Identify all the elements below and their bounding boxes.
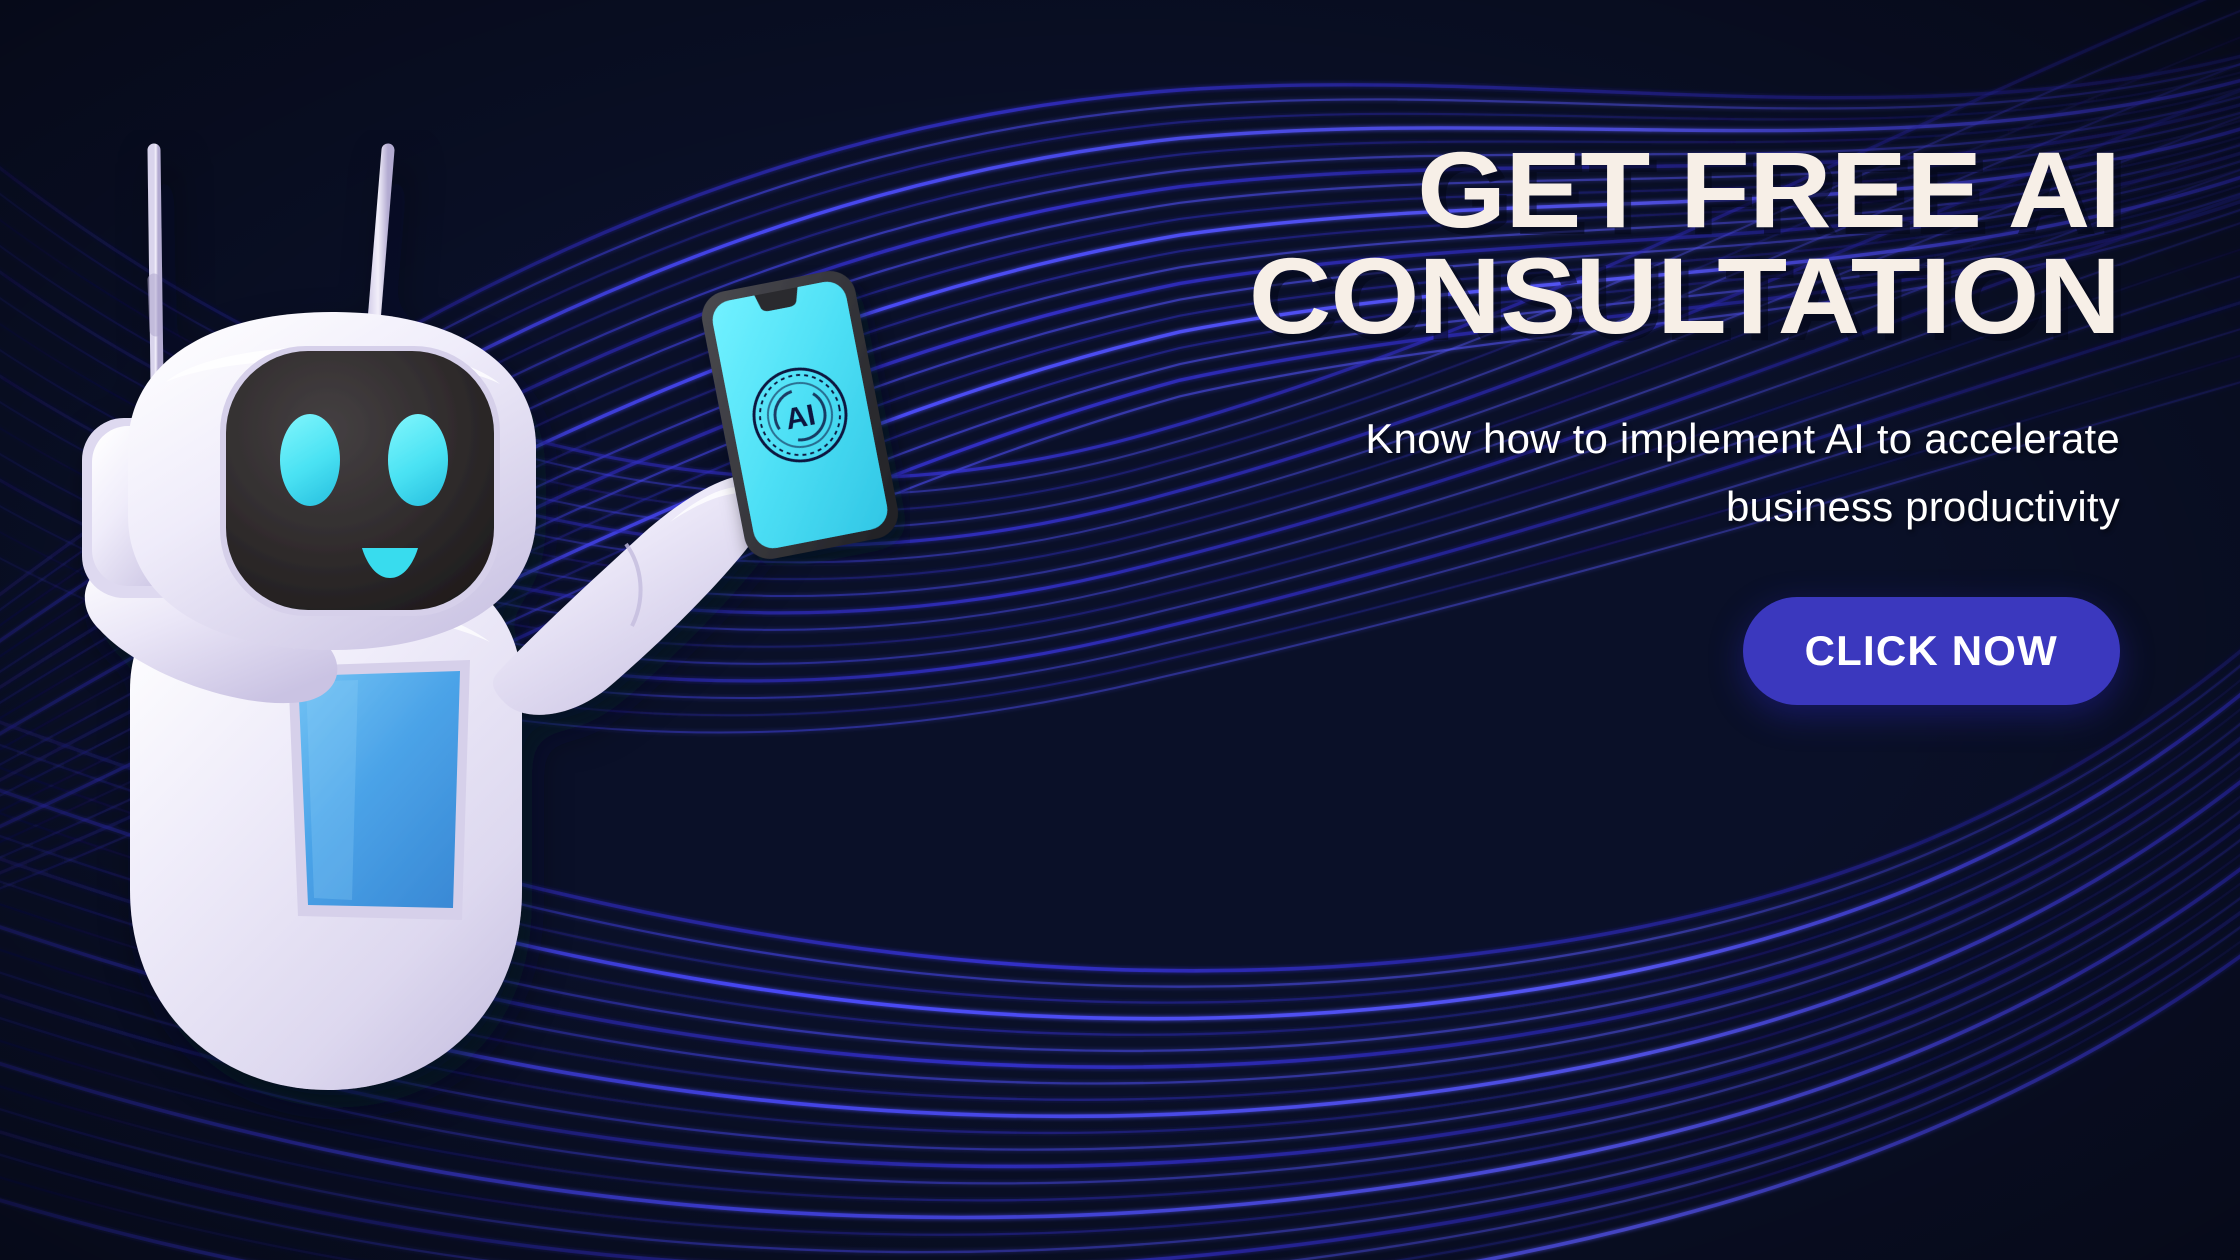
subheading: Know how to implement AI to accelerate b… [940, 405, 2120, 541]
robot-face-screen [220, 346, 500, 616]
promo-banner: AI GET FREE AI CONSULTATION Know how to … [0, 0, 2240, 1260]
copy-block: GET FREE AI CONSULTATION Know how to imp… [940, 140, 2120, 705]
ai-logo-text: AI [783, 398, 819, 436]
subheading-line-2: business productivity [940, 473, 2120, 541]
chest-display-panel [288, 660, 470, 920]
robot-eye-left [280, 414, 340, 506]
headline-line-2: CONSULTATION [869, 246, 2120, 346]
click-now-button[interactable]: CLICK NOW [1743, 597, 2120, 705]
cta-container: CLICK NOW [940, 597, 2120, 705]
robot-eye-right [388, 414, 448, 506]
headline-line-1: GET FREE AI [869, 140, 2120, 240]
subheading-line-1: Know how to implement AI to accelerate [940, 405, 2120, 473]
